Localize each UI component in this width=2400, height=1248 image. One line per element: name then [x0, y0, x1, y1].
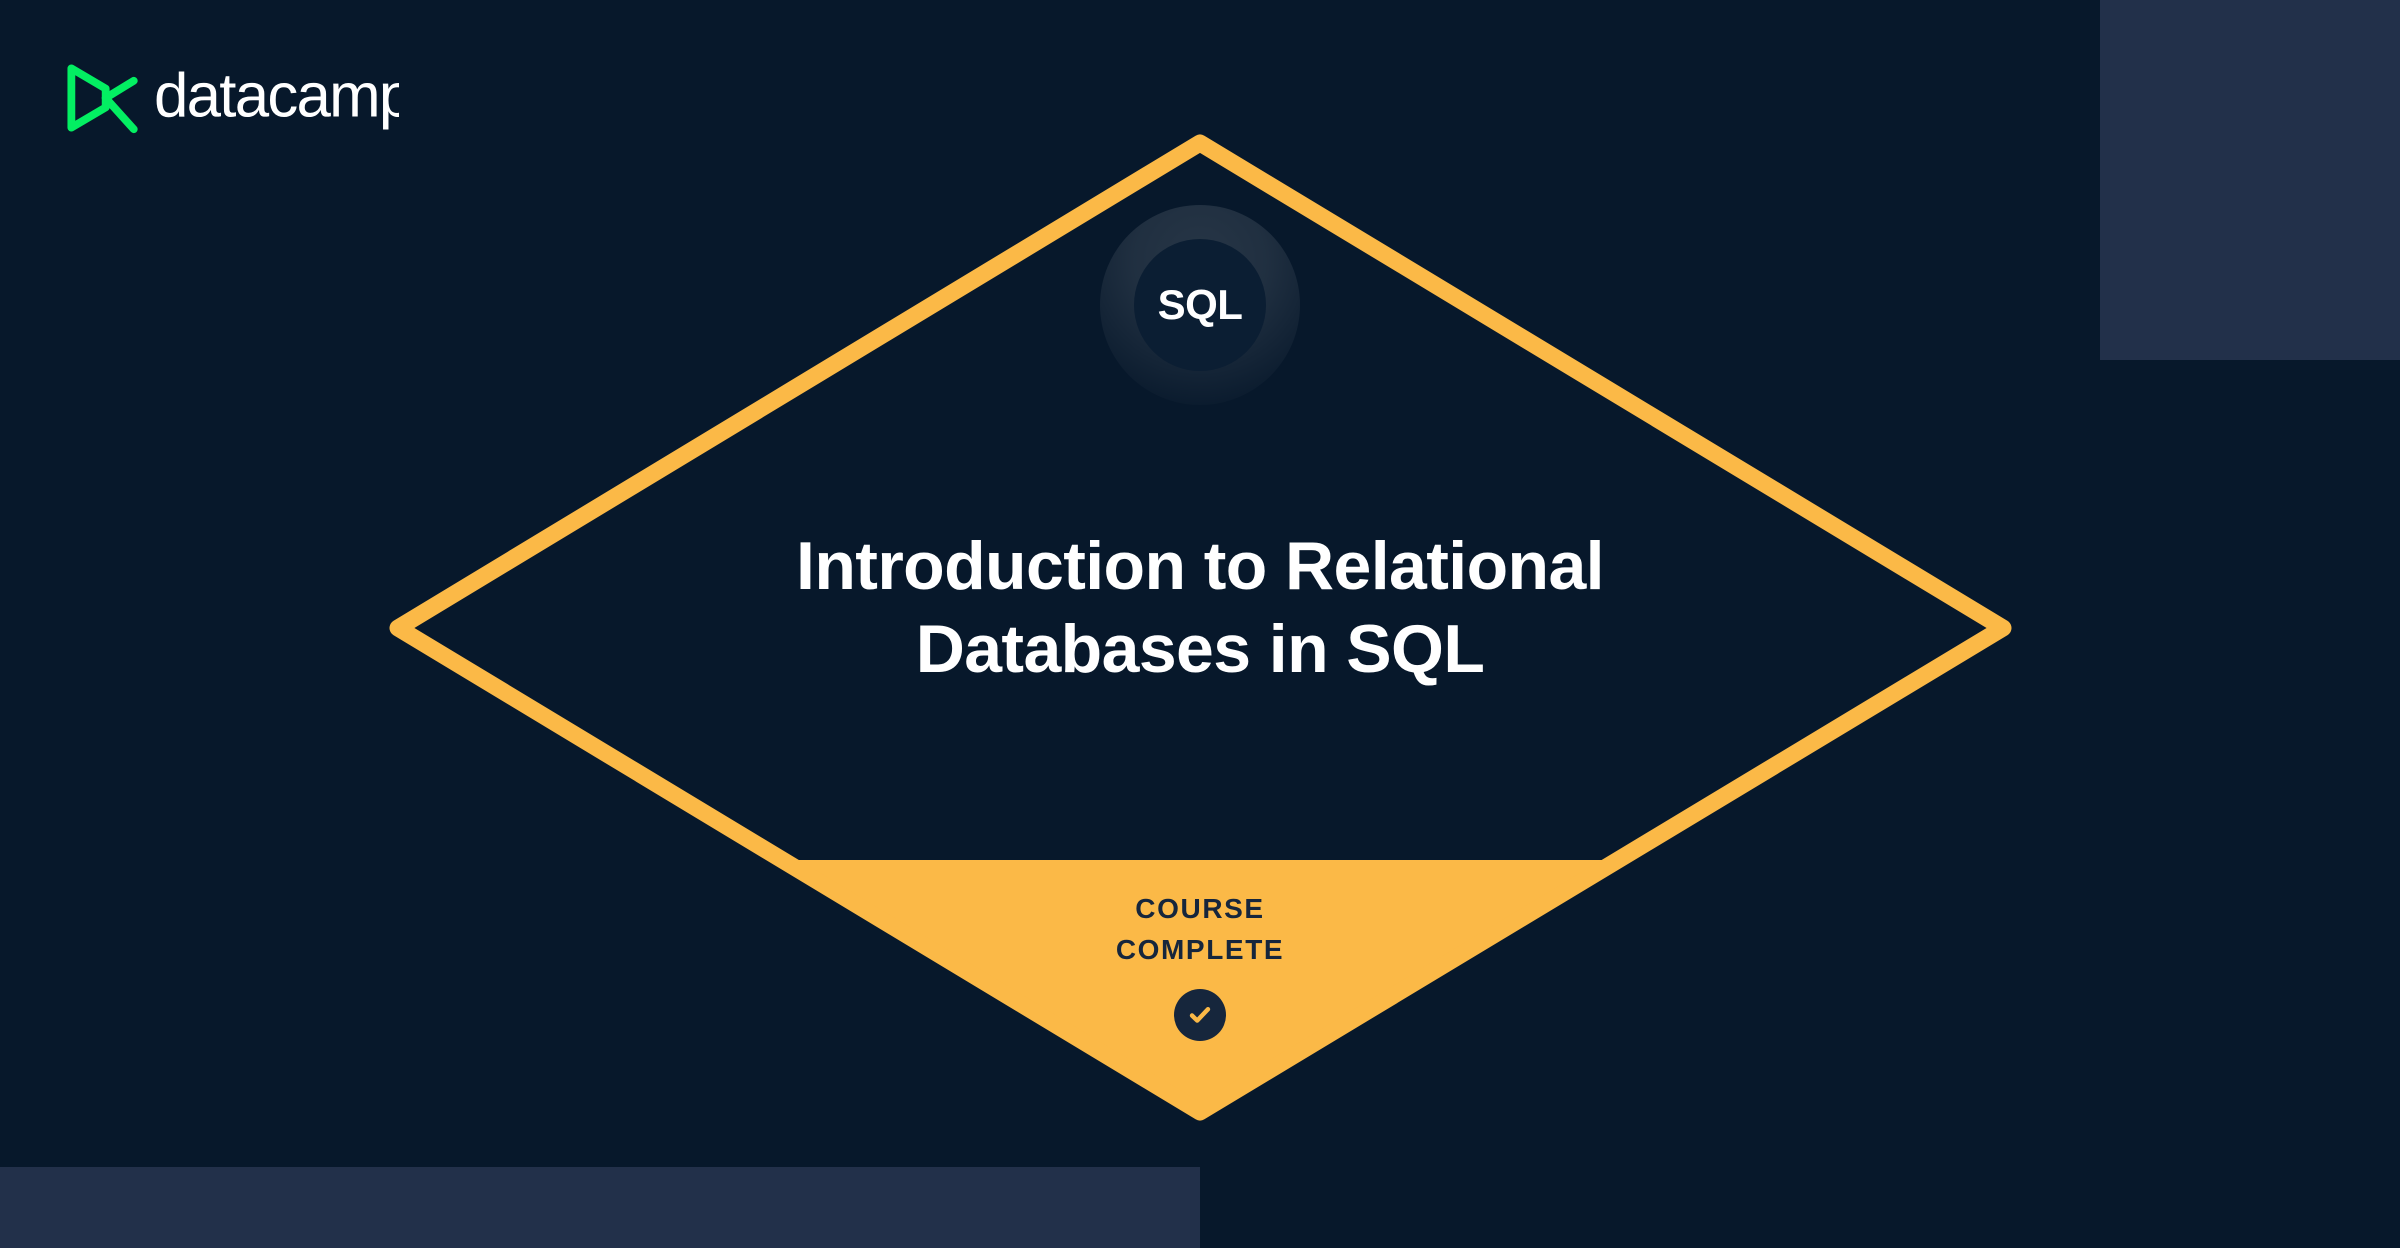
sql-badge-label: SQL	[1158, 284, 1243, 326]
datacamp-wordmark-text: datacamp	[154, 63, 399, 131]
datacamp-wordmark: datacamp	[154, 63, 399, 133]
course-title: Introduction to Relational Databases in …	[500, 525, 1900, 691]
certificate-card: datacamp SQL Introduction to Relational …	[0, 0, 2400, 1248]
check-mark-icon	[1185, 1000, 1215, 1030]
datacamp-logo-icon	[62, 59, 140, 137]
course-title-line-1: Introduction to Relational	[500, 525, 1900, 608]
datacamp-logo[interactable]: datacamp	[62, 58, 399, 138]
course-title-line-2: Databases in SQL	[500, 608, 1900, 691]
course-complete-status: COURSE COMPLETE	[900, 888, 1500, 1041]
course-complete-line-1: COURSE	[900, 888, 1500, 929]
course-complete-line-2: COMPLETE	[900, 929, 1500, 970]
check-circle-icon	[1174, 989, 1226, 1041]
sql-technology-badge: SQL	[1100, 205, 1300, 405]
